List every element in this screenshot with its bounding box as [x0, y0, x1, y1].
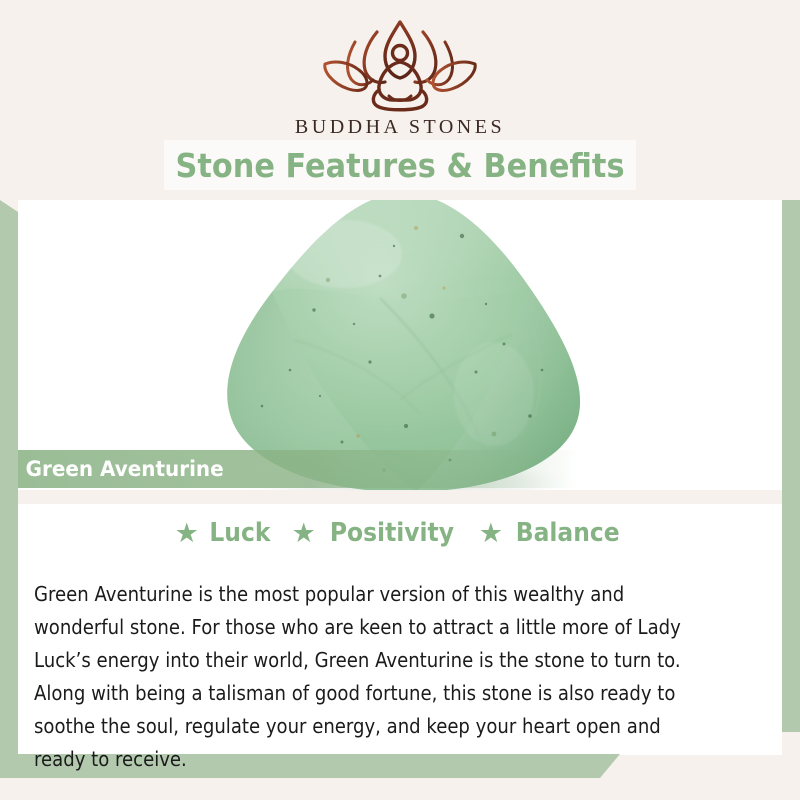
keyword-luck: ★ Luck: [175, 518, 274, 548]
panel-divider-strip: [18, 490, 782, 504]
green-aventurine-tumbled-stone-icon: [194, 192, 614, 490]
stone-features-infographic: Green Aventurine: [0, 0, 800, 800]
page-title: Stone Features & Benefits: [176, 146, 625, 185]
stone-name-label: Green Aventurine: [18, 457, 224, 481]
star-icon: ★: [292, 520, 316, 547]
lotus-meditation-figure-icon: [305, 16, 495, 114]
keyword-label: Balance: [516, 518, 620, 548]
keyword-balance: ★ Balance: [479, 518, 626, 548]
keyword-label: Positivity: [330, 518, 454, 548]
description-paragraph: Green Aventurine is the most popular ver…: [34, 578, 698, 776]
star-icon: ★: [175, 520, 199, 547]
keyword-label: Luck: [209, 518, 270, 548]
keyword-positivity: ★ Positivity: [292, 518, 461, 548]
stone-name-band: Green Aventurine: [18, 450, 578, 488]
stone-photo-panel: [18, 192, 782, 490]
brand-name: BUDDHA STONES: [0, 116, 800, 139]
brand-logo: BUDDHA STONES: [0, 16, 800, 139]
title-banner: Stone Features & Benefits: [164, 140, 636, 190]
star-icon: ★: [479, 520, 503, 547]
keyword-row: ★ Luck ★ Positivity ★ Balance: [0, 518, 800, 548]
decor-left-band: [0, 200, 18, 778]
